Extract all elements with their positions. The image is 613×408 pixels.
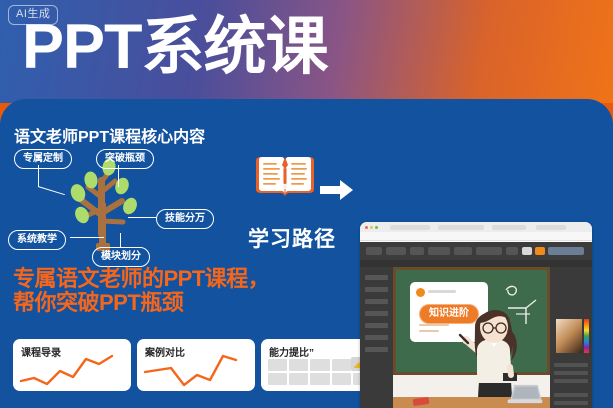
slide-body-line <box>419 324 449 326</box>
editor-subtoolbar <box>360 260 592 267</box>
headline: 专属语文老师的PPT课程， 帮你突破PPT瓶颈 <box>13 267 269 315</box>
tree-label-专属定制[interactable]: 专属定制 <box>14 149 72 169</box>
window-tab[interactable] <box>390 225 430 230</box>
right-arrow-icon <box>320 179 354 201</box>
window-tab[interactable] <box>536 225 566 230</box>
panel-row[interactable] <box>554 401 588 405</box>
open-book-icon <box>254 151 316 201</box>
header-banner: AI生成 PPT系统课 <box>0 0 613 103</box>
editor-right-panel <box>550 267 592 408</box>
layer-row[interactable] <box>365 299 388 304</box>
poster-root: AI生成 PPT系统课 语文老师PPT课程核心内容 <box>0 0 613 408</box>
learning-path-block: 学习路径 <box>248 147 358 255</box>
headline-line-1: 专属语文老师的PPT课程， <box>13 267 269 291</box>
toolbar-chip-active[interactable] <box>522 247 532 255</box>
window-title-bar <box>360 222 592 232</box>
close-icon[interactable] <box>365 226 368 229</box>
color-picker-gradient[interactable] <box>556 319 582 353</box>
learning-path-label: 学习路径 <box>248 223 373 253</box>
panel-row[interactable] <box>554 393 588 397</box>
toolbar-chip[interactable] <box>428 247 450 255</box>
section-heading: 语文老师PPT课程核心内容 <box>14 123 205 147</box>
layer-row[interactable] <box>365 323 388 328</box>
laptop-icon <box>505 383 545 405</box>
grid-block <box>268 373 287 385</box>
panel-row[interactable] <box>554 379 588 383</box>
tree-label-技能分万[interactable]: 技能分万 <box>156 209 214 229</box>
editor-canvas: 知识进阶 <box>393 267 550 408</box>
toolbar-chip[interactable] <box>454 247 472 255</box>
window-tab[interactable] <box>492 225 526 230</box>
layer-row[interactable] <box>365 287 388 292</box>
grid-block <box>289 373 308 385</box>
grid-block <box>289 359 308 371</box>
tree-label-系统教学[interactable]: 系统教学 <box>8 230 66 250</box>
layer-row[interactable] <box>365 335 388 340</box>
grid-block <box>268 359 287 371</box>
hue-slider[interactable] <box>584 319 589 353</box>
slide-body-line <box>419 330 439 332</box>
headline-line-2: 帮你突破PPT瓶颈 <box>13 291 269 315</box>
toolbar-chip[interactable] <box>506 247 518 255</box>
connector-line-5 <box>120 233 121 247</box>
layer-row[interactable] <box>365 311 388 316</box>
tree-diagram: 专属定制 突破瓶颈 技能分万 系统教学 模块划分 <box>8 147 248 259</box>
editor-window-illustration: 知识进阶 <box>360 222 592 408</box>
toolbar-chip[interactable] <box>366 247 382 255</box>
connector-line-3 <box>128 217 156 218</box>
window-toolbar-light <box>360 232 592 241</box>
layer-row[interactable] <box>365 347 388 352</box>
grid-block <box>332 359 351 371</box>
toolbar-chip[interactable] <box>386 247 406 255</box>
toolbar-chip-accent[interactable] <box>535 247 545 255</box>
editor-left-panel <box>360 267 393 408</box>
tree-label-突破瓶颈[interactable]: 突破瓶颈 <box>96 149 154 169</box>
tree-label-模块划分[interactable]: 模块划分 <box>92 247 150 267</box>
mini-card-case-comparison[interactable]: 案例对比 <box>137 339 255 391</box>
panel-row[interactable] <box>554 371 588 375</box>
toolbar-chip[interactable] <box>410 247 424 255</box>
mini-card-course-index[interactable]: 课程导录 <box>13 339 131 391</box>
grid-block <box>310 359 329 371</box>
grid-block <box>332 373 351 385</box>
mini-card-label: 能力提比” <box>269 344 314 359</box>
page-title: PPT系统课 <box>22 11 328 83</box>
editor-toolbar <box>360 242 592 260</box>
minimize-icon[interactable] <box>370 226 373 229</box>
connector-line-4 <box>70 237 104 238</box>
toolbar-chip[interactable] <box>476 247 502 255</box>
sparkline-chart-2 <box>141 351 251 387</box>
maximize-icon[interactable] <box>375 226 378 229</box>
window-tab[interactable] <box>438 225 484 230</box>
toolbar-chip[interactable] <box>548 247 584 255</box>
content-panel: 语文老师PPT课程核心内容 <box>0 99 613 408</box>
slide-logo-text <box>428 290 456 293</box>
slide-logo-icon <box>416 288 425 297</box>
grid-block <box>310 373 329 385</box>
layer-row[interactable] <box>365 275 388 280</box>
panel-row[interactable] <box>554 363 588 367</box>
sparkline-chart-1 <box>17 351 127 387</box>
